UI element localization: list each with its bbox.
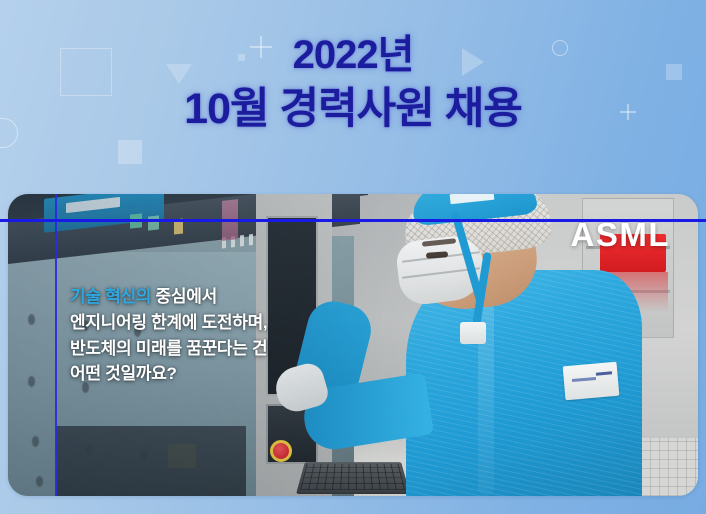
horizontal-guide-line [0,219,706,222]
page-title: 2022년 10월 경력사원 채용 [0,34,706,132]
title-line-event: 10월 경력사원 채용 [0,87,706,132]
square-filled-small-decoration [118,140,142,164]
overlay-line-one: 기술 혁신의 중심에서 [70,284,267,310]
title-line-year: 2022년 [0,34,706,76]
overlay-line-one-rest: 중심에서 [151,287,217,306]
overlay-line-three: 반도체의 미래를 꿈꾼다는 건 [70,336,267,362]
overlay-highlight-text: 기술 혁신의 [70,287,151,306]
overlay-line-two: 엔지니어링 한계에 도전하며, [70,310,267,336]
recruitment-banner: 2022년 10월 경력사원 채용 [0,0,706,514]
overlay-line-four: 어떤 것일까요? [70,361,267,387]
vertical-guide-line [55,194,57,496]
hero-photo-panel[interactable]: ASML 기술 혁신의 중심에서 엔지니어링 한계에 도전하며, 반도체의 미래… [8,194,698,496]
photo-overlay-text: 기술 혁신의 중심에서 엔지니어링 한계에 도전하며, 반도체의 미래를 꿈꾼다… [70,284,267,387]
